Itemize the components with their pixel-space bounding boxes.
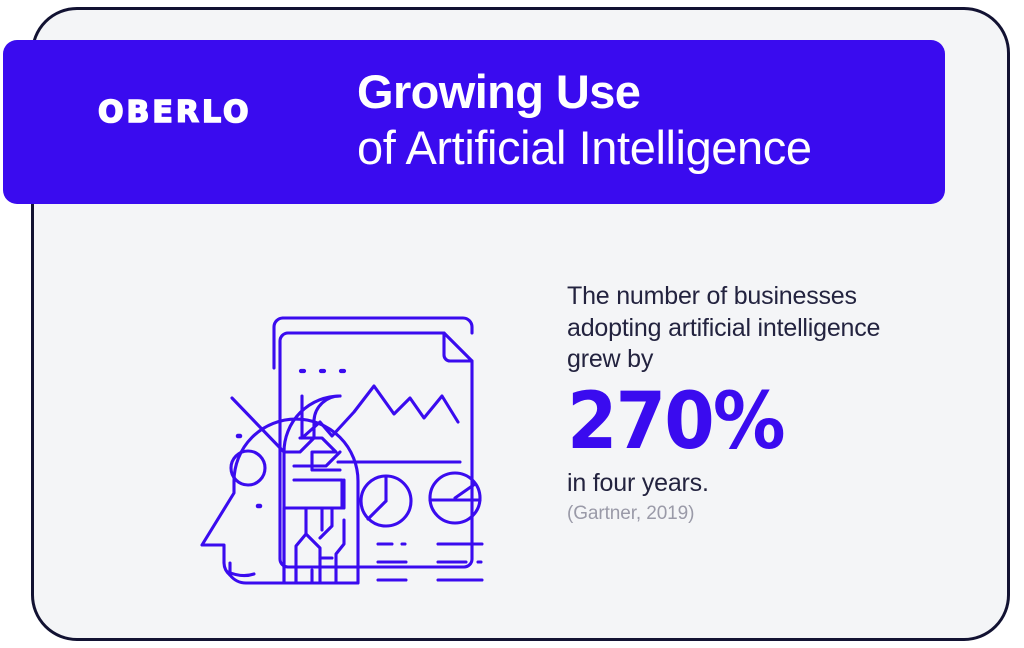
chart-zigzag-line xyxy=(302,386,458,438)
infographic-canvas: OBERLO Growing Use of Artificial Intelli… xyxy=(0,0,1024,648)
oberlo-logo: OBERLO xyxy=(98,98,252,128)
pie-chart-left-slice-diagonal xyxy=(368,501,386,519)
page-title-line-2: of Artificial Intelligence xyxy=(357,120,812,176)
page-title-line-1: Growing Use xyxy=(357,64,812,120)
statistic-content-block: The number of businesses adopting artifi… xyxy=(567,281,907,526)
circuit-main-diagonal xyxy=(232,398,284,583)
statistic-value: 270% xyxy=(567,382,883,462)
circuit-arc-outer xyxy=(284,396,340,452)
circuit-trace-l xyxy=(336,520,344,583)
header-title-block: Growing Use of Artificial Intelligence xyxy=(357,64,812,176)
lead-text: The number of businesses adopting artifi… xyxy=(567,281,907,376)
circuit-trace-e xyxy=(294,480,342,508)
circuit-trace-a xyxy=(284,420,314,452)
document-page xyxy=(280,333,472,567)
illustration-svg xyxy=(190,268,510,598)
document-top-edge xyxy=(283,318,472,333)
source-attribution: (Gartner, 2019) xyxy=(567,502,907,526)
circuit-trace-d xyxy=(294,452,340,466)
statistic-timeframe: in four years. xyxy=(567,468,907,499)
ai-head-and-report-illustration xyxy=(190,268,510,598)
head-mouth-line xyxy=(228,572,254,576)
circuit-trace-f xyxy=(284,480,344,508)
